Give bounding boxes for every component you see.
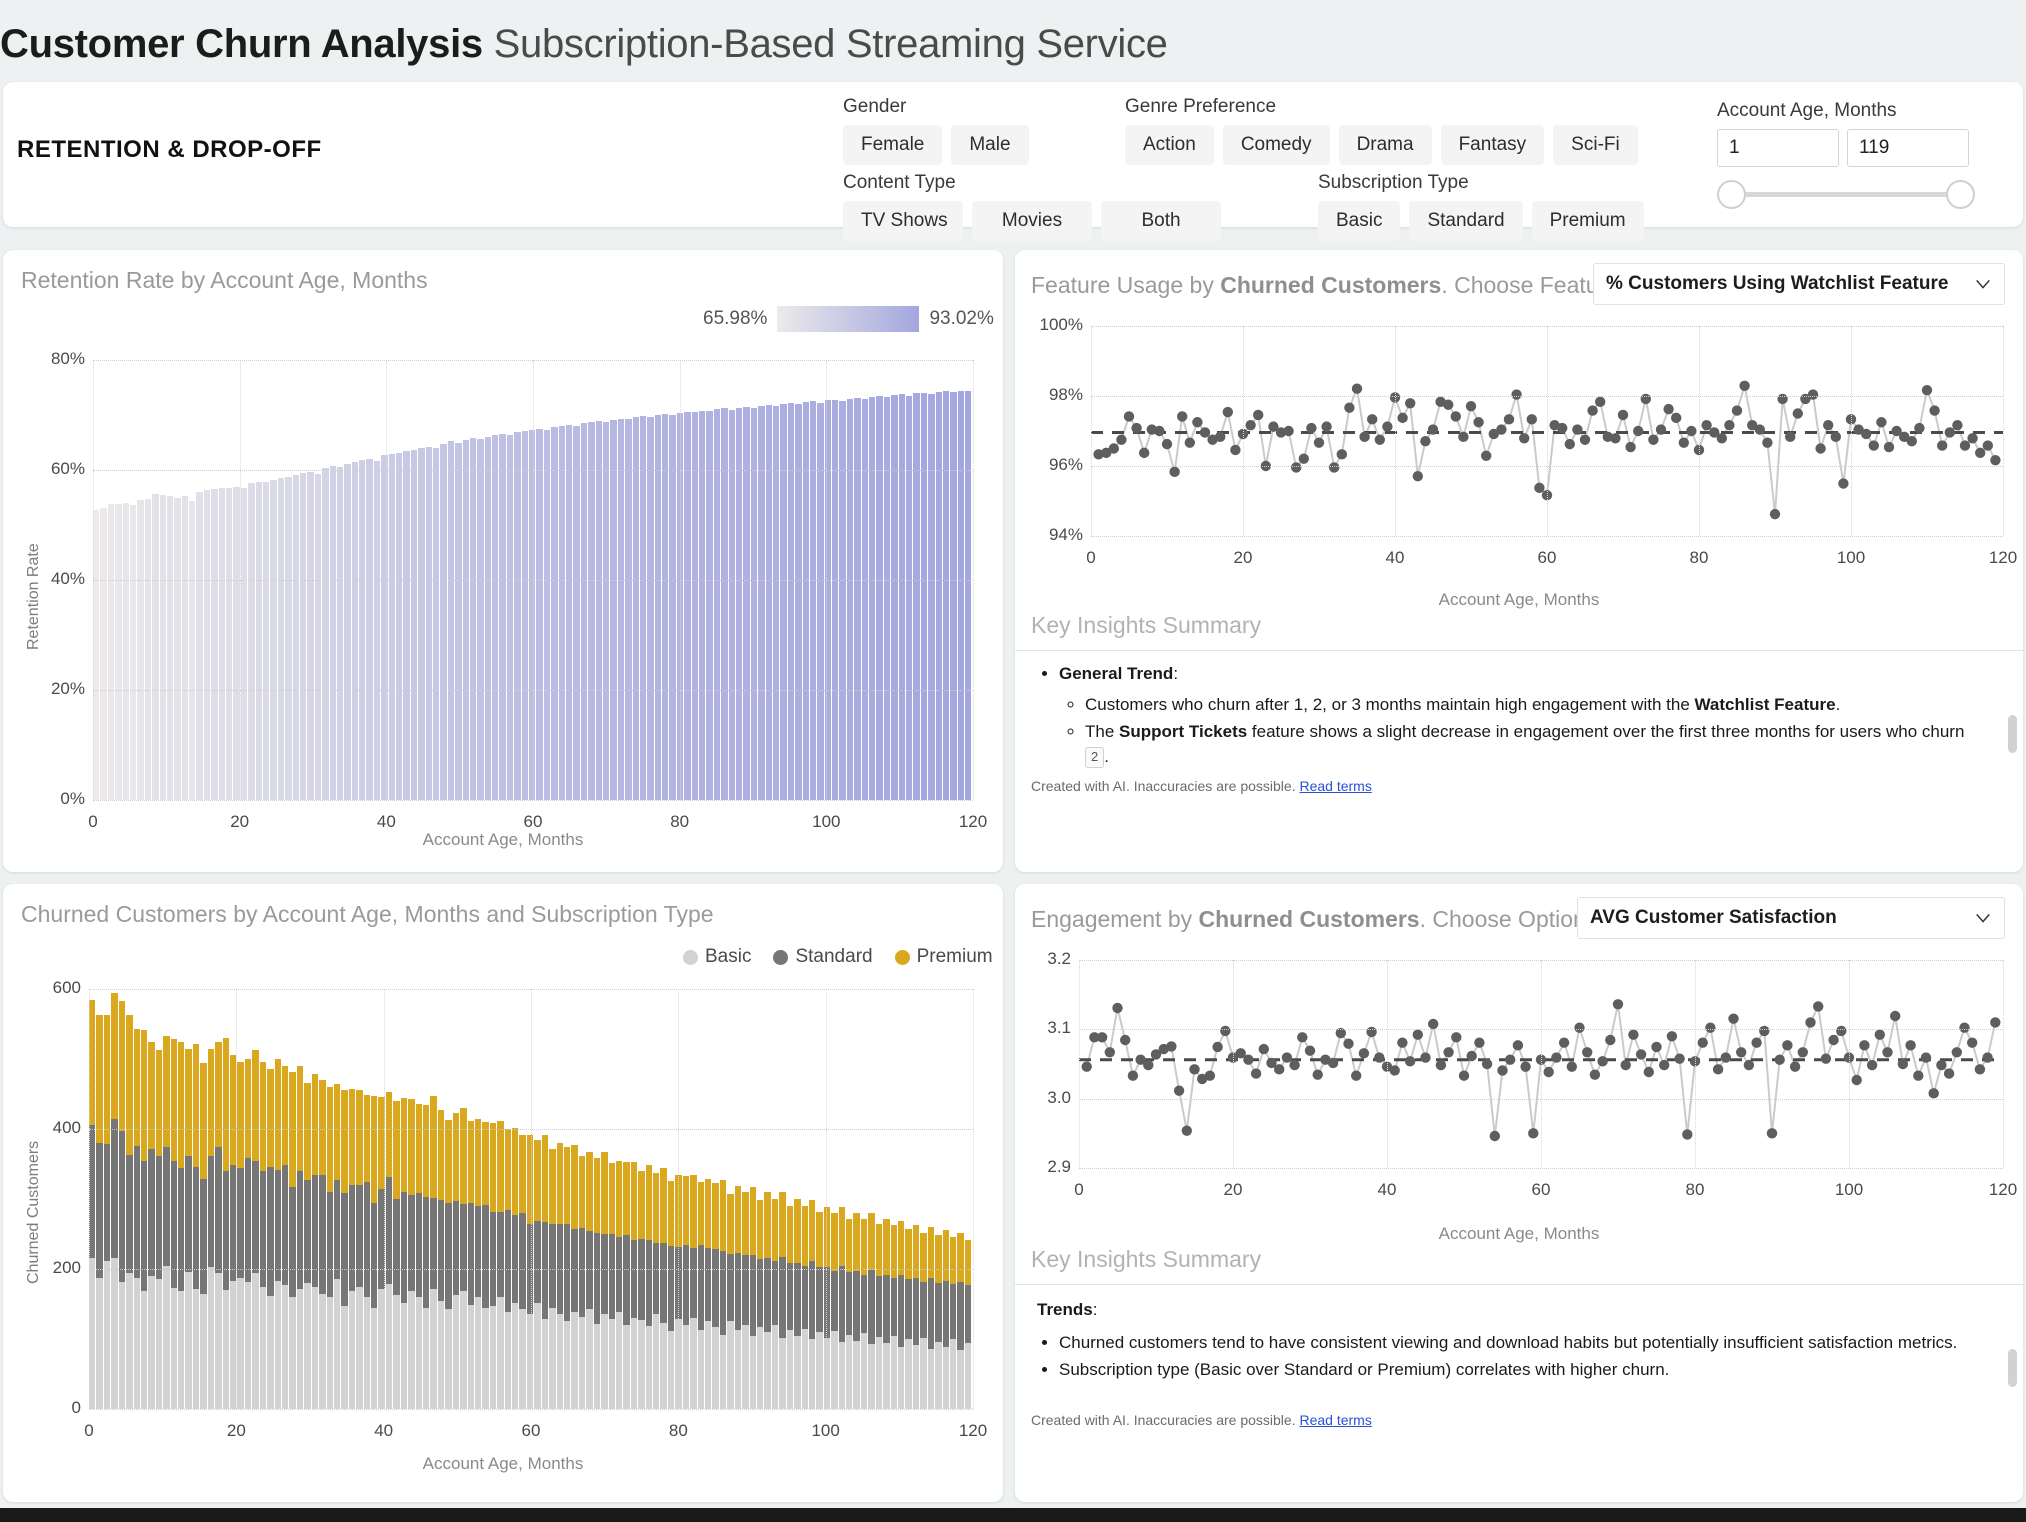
data-point[interactable] [1936, 1060, 1946, 1070]
data-point[interactable] [1343, 1039, 1353, 1049]
data-point[interactable] [1351, 1071, 1361, 1081]
bar[interactable] [950, 392, 956, 800]
data-point[interactable] [1755, 424, 1765, 434]
stacked-bar[interactable] [935, 989, 941, 1409]
stacked-bar[interactable] [401, 989, 407, 1409]
bar[interactable] [174, 498, 180, 800]
bar[interactable] [610, 420, 616, 800]
engage-read-terms-link[interactable]: Read terms [1299, 1412, 1371, 1428]
data-point[interactable] [1451, 1032, 1461, 1042]
data-point[interactable] [1975, 448, 1985, 458]
data-point[interactable] [1975, 1064, 1985, 1074]
stacked-bar[interactable] [638, 989, 644, 1409]
data-point[interactable] [1605, 1035, 1615, 1045]
data-point[interactable] [1116, 435, 1126, 445]
data-point[interactable] [1667, 1031, 1677, 1041]
data-point[interactable] [1587, 405, 1597, 415]
bar[interactable] [485, 437, 491, 800]
bar[interactable] [359, 460, 365, 800]
stacked-bar[interactable] [757, 989, 763, 1409]
data-point[interactable] [1328, 1058, 1338, 1068]
data-point[interactable] [1836, 1026, 1846, 1036]
bar[interactable] [773, 406, 779, 800]
data-point[interactable] [1793, 408, 1803, 418]
stacked-bar[interactable] [660, 989, 666, 1409]
data-point[interactable] [1230, 445, 1240, 455]
data-point[interactable] [1082, 1061, 1092, 1071]
data-point[interactable] [1504, 414, 1514, 424]
bar[interactable] [669, 415, 675, 800]
bar[interactable] [433, 448, 439, 800]
data-point[interactable] [1397, 1037, 1407, 1047]
data-point[interactable] [1169, 467, 1179, 477]
legend-item-premium[interactable]: Premium [895, 946, 993, 968]
bar[interactable] [455, 443, 461, 800]
data-point[interactable] [1420, 436, 1430, 446]
data-point[interactable] [1867, 1060, 1877, 1070]
bar[interactable] [219, 488, 225, 800]
stacked-bar[interactable] [304, 989, 310, 1409]
stacked-bar[interactable] [171, 989, 177, 1409]
bar[interactable] [884, 397, 890, 800]
data-point[interactable] [1337, 449, 1347, 459]
data-point[interactable] [1759, 1026, 1769, 1036]
stacked-bar[interactable] [742, 989, 748, 1409]
data-point[interactable] [1519, 433, 1529, 443]
data-point[interactable] [1838, 478, 1848, 488]
legend-item-basic[interactable]: Basic [683, 946, 751, 968]
bar[interactable] [832, 400, 838, 800]
data-point[interactable] [1496, 424, 1506, 434]
stacked-bar[interactable] [787, 989, 793, 1409]
filter-sub-basic[interactable]: Basic [1318, 201, 1400, 241]
data-point[interactable] [1105, 1047, 1115, 1057]
data-point[interactable] [1790, 1061, 1800, 1071]
bar[interactable] [921, 393, 927, 800]
stacked-bar[interactable] [831, 989, 837, 1409]
data-point[interactable] [1921, 1052, 1931, 1062]
bar[interactable] [743, 407, 749, 800]
data-point[interactable] [1112, 1003, 1122, 1013]
stacked-bar[interactable] [364, 989, 370, 1409]
bar[interactable] [366, 459, 372, 800]
stacked-bar[interactable] [267, 989, 273, 1409]
stacked-bar[interactable] [349, 989, 355, 1409]
bar[interactable] [795, 404, 801, 800]
data-point[interactable] [1762, 437, 1772, 447]
stacked-bar[interactable] [943, 989, 949, 1409]
data-point[interactable] [1215, 432, 1225, 442]
data-point[interactable] [1205, 1071, 1215, 1081]
bar[interactable] [551, 427, 557, 800]
data-point[interactable] [1713, 1064, 1723, 1074]
bar[interactable] [263, 482, 269, 800]
stacked-bar[interactable] [846, 989, 852, 1409]
data-point[interactable] [1174, 1085, 1184, 1095]
data-point[interactable] [1610, 433, 1620, 443]
stacked-bar[interactable] [393, 989, 399, 1409]
bar[interactable] [581, 423, 587, 800]
data-point[interactable] [1131, 423, 1141, 433]
data-point[interactable] [1154, 426, 1164, 436]
data-point[interactable] [1644, 1067, 1654, 1077]
bar[interactable] [241, 488, 247, 800]
data-point[interactable] [1177, 411, 1187, 421]
engage-select-dropdown[interactable]: AVG Customer Satisfaction [1577, 897, 2005, 939]
bar[interactable] [647, 417, 653, 800]
data-point[interactable] [1859, 1040, 1869, 1050]
feature-read-terms-link[interactable]: Read terms [1299, 778, 1371, 794]
stacked-bar[interactable] [609, 989, 615, 1409]
stacked-bar[interactable] [772, 989, 778, 1409]
data-point[interactable] [1212, 1042, 1222, 1052]
bar[interactable] [270, 480, 276, 800]
data-point[interactable] [1875, 1029, 1885, 1039]
data-point[interactable] [1413, 471, 1423, 481]
stacked-bar[interactable] [668, 989, 674, 1409]
data-point[interactable] [1329, 462, 1339, 472]
data-point[interactable] [1352, 384, 1362, 394]
data-point[interactable] [1686, 426, 1696, 436]
bar[interactable] [196, 492, 202, 800]
stacked-bar[interactable] [104, 989, 110, 1409]
data-point[interactable] [1882, 1047, 1892, 1057]
bar[interactable] [736, 408, 742, 800]
data-point[interactable] [1739, 381, 1749, 391]
data-point[interactable] [1698, 1037, 1708, 1047]
data-point[interactable] [1633, 426, 1643, 436]
stacked-bar[interactable] [223, 989, 229, 1409]
data-point[interactable] [1937, 440, 1947, 450]
data-point[interactable] [1813, 1001, 1823, 1011]
data-point[interactable] [1245, 420, 1255, 430]
stacked-bar[interactable] [779, 989, 785, 1409]
bar[interactable] [588, 422, 594, 800]
stacked-bar[interactable] [208, 989, 214, 1409]
bar[interactable] [640, 416, 646, 800]
data-point[interactable] [1922, 385, 1932, 395]
data-point[interactable] [1682, 1129, 1692, 1139]
data-point[interactable] [1907, 436, 1917, 446]
data-point[interactable] [1815, 443, 1825, 453]
bar[interactable] [278, 478, 284, 800]
filter-gender-female[interactable]: Female [843, 125, 942, 165]
bar[interactable] [100, 508, 106, 800]
bar[interactable] [204, 490, 210, 800]
data-point[interactable] [1656, 424, 1666, 434]
data-point[interactable] [1628, 1029, 1638, 1039]
data-point[interactable] [1905, 1040, 1915, 1050]
stacked-bar[interactable] [534, 989, 540, 1409]
data-point[interactable] [1625, 442, 1635, 452]
data-point[interactable] [1374, 1052, 1384, 1062]
stacked-bar[interactable] [965, 989, 971, 1409]
data-point[interactable] [1544, 1067, 1554, 1077]
data-point[interactable] [1770, 509, 1780, 519]
stacked-bar[interactable] [853, 989, 859, 1409]
data-point[interactable] [1636, 1049, 1646, 1059]
data-point[interactable] [1297, 1032, 1307, 1042]
data-point[interactable] [1679, 437, 1689, 447]
data-point[interactable] [1960, 440, 1970, 450]
data-point[interactable] [1321, 421, 1331, 431]
data-point[interactable] [1823, 420, 1833, 430]
bar[interactable] [559, 426, 565, 800]
stacked-bar[interactable] [616, 989, 622, 1409]
stacked-bar[interactable] [193, 989, 199, 1409]
filter-sub-standard[interactable]: Standard [1409, 201, 1522, 241]
data-point[interactable] [1945, 427, 1955, 437]
bar[interactable] [470, 438, 476, 800]
stacked-bar[interactable] [408, 989, 414, 1409]
account-age-slider[interactable] [1717, 175, 1975, 215]
bar[interactable] [418, 448, 424, 800]
stacked-bar[interactable] [913, 989, 919, 1409]
data-point[interactable] [1929, 405, 1939, 415]
stacked-bar[interactable] [289, 989, 295, 1409]
data-point[interactable] [1274, 1064, 1284, 1074]
bar[interactable] [618, 419, 624, 800]
stacked-bar[interactable] [252, 989, 258, 1409]
bar[interactable] [330, 466, 336, 800]
filter-genre-drama[interactable]: Drama [1339, 125, 1432, 165]
stacked-bar[interactable] [371, 989, 377, 1409]
data-point[interactable] [1367, 414, 1377, 424]
stacked-bar[interactable] [623, 989, 629, 1409]
stacked-bar[interactable] [586, 989, 592, 1409]
bar[interactable] [152, 494, 158, 800]
bar[interactable] [869, 397, 875, 800]
stacked-bar[interactable] [156, 989, 162, 1409]
data-point[interactable] [1220, 1026, 1230, 1036]
data-point[interactable] [1120, 1035, 1130, 1045]
stacked-bar[interactable] [319, 989, 325, 1409]
bar[interactable] [374, 461, 380, 800]
data-point[interactable] [1952, 1047, 1962, 1057]
data-point[interactable] [1413, 1029, 1423, 1039]
stacked-bar[interactable] [482, 989, 488, 1409]
data-point[interactable] [1831, 432, 1841, 442]
bar[interactable] [389, 454, 395, 800]
stacked-bar[interactable] [839, 989, 845, 1409]
bar[interactable] [876, 396, 882, 800]
data-point[interactable] [1375, 435, 1385, 445]
data-point[interactable] [1490, 1131, 1500, 1141]
data-point[interactable] [1097, 1032, 1107, 1042]
data-point[interactable] [1914, 423, 1924, 433]
data-point[interactable] [1243, 1055, 1253, 1065]
stacked-bar[interactable] [519, 989, 525, 1409]
data-point[interactable] [1613, 999, 1623, 1009]
stacked-bar[interactable] [594, 989, 600, 1409]
bar[interactable] [573, 426, 579, 800]
stacked-bar[interactable] [237, 989, 243, 1409]
stacked-bar[interactable] [905, 989, 911, 1409]
data-point[interactable] [1990, 455, 2000, 465]
data-point[interactable] [1736, 1047, 1746, 1057]
data-point[interactable] [1443, 1047, 1453, 1057]
bar[interactable] [633, 417, 639, 800]
bar[interactable] [544, 430, 550, 800]
data-point[interactable] [1473, 417, 1483, 427]
data-point[interactable] [1189, 1064, 1199, 1074]
stacked-bar[interactable] [512, 989, 518, 1409]
data-point[interactable] [1192, 417, 1202, 427]
data-point[interactable] [1821, 1053, 1831, 1063]
data-point[interactable] [1913, 1071, 1923, 1081]
stacked-bar[interactable] [327, 989, 333, 1409]
bar[interactable] [248, 483, 254, 800]
data-point[interactable] [1648, 435, 1658, 445]
bar[interactable] [780, 404, 786, 800]
data-point[interactable] [1497, 1065, 1507, 1075]
bar[interactable] [440, 444, 446, 800]
bar[interactable] [130, 505, 136, 800]
stacked-bar[interactable] [646, 989, 652, 1409]
stacked-bar[interactable] [445, 989, 451, 1409]
stacked-bar[interactable] [430, 989, 436, 1409]
stacked-bar[interactable] [698, 989, 704, 1409]
bar[interactable] [788, 403, 794, 800]
data-point[interactable] [1459, 1071, 1469, 1081]
bar[interactable] [603, 422, 609, 800]
bar[interactable] [758, 406, 764, 800]
data-point[interactable] [1590, 1069, 1600, 1079]
bar[interactable] [943, 391, 949, 800]
stacked-bar[interactable] [386, 989, 392, 1409]
data-point[interactable] [1520, 1061, 1530, 1071]
data-point[interactable] [1534, 483, 1544, 493]
bar[interactable] [936, 392, 942, 800]
stacked-bar[interactable] [720, 989, 726, 1409]
data-point[interactable] [1728, 1013, 1738, 1023]
filter-content-tv-shows[interactable]: TV Shows [843, 201, 963, 241]
stacked-bar[interactable] [712, 989, 718, 1409]
data-point[interactable] [1663, 404, 1673, 414]
data-point[interactable] [1732, 405, 1742, 415]
bar[interactable] [913, 393, 919, 800]
stacked-bar[interactable] [764, 989, 770, 1409]
data-point[interactable] [1967, 1037, 1977, 1047]
stacked-bar[interactable] [571, 989, 577, 1409]
stacked-bar[interactable] [727, 989, 733, 1409]
data-point[interactable] [1289, 1060, 1299, 1070]
feature-insights-scrollbar[interactable] [2008, 715, 2017, 753]
bar[interactable] [625, 419, 631, 800]
stacked-bar[interactable] [950, 989, 956, 1409]
bar[interactable] [477, 439, 483, 800]
data-point[interactable] [1253, 410, 1263, 420]
bar[interactable] [536, 429, 542, 800]
stacked-bar[interactable] [809, 989, 815, 1409]
data-point[interactable] [1359, 1048, 1369, 1058]
bar[interactable] [160, 495, 166, 800]
data-point[interactable] [1705, 1023, 1715, 1033]
data-point[interactable] [1282, 1052, 1292, 1062]
bar[interactable] [108, 504, 114, 800]
stacked-bar[interactable] [460, 989, 466, 1409]
data-point[interactable] [1674, 1053, 1684, 1063]
bar[interactable] [751, 408, 757, 800]
feature-select-dropdown[interactable]: % Customers Using Watchlist Feature [1593, 263, 2005, 305]
data-point[interactable] [1128, 1071, 1138, 1081]
data-point[interactable] [1390, 1065, 1400, 1075]
data-point[interactable] [1565, 439, 1575, 449]
data-point[interactable] [1466, 401, 1476, 411]
bar[interactable] [662, 414, 668, 800]
data-point[interactable] [1283, 426, 1293, 436]
bar[interactable] [514, 432, 520, 800]
data-point[interactable] [1717, 433, 1727, 443]
slider-handle-max[interactable] [1946, 180, 1975, 209]
bar[interactable] [123, 503, 129, 800]
stacked-bar[interactable] [883, 989, 889, 1409]
data-point[interactable] [1313, 1069, 1323, 1079]
bar[interactable] [729, 410, 735, 800]
bar[interactable] [137, 500, 143, 800]
data-point[interactable] [1185, 437, 1195, 447]
bar[interactable] [211, 489, 217, 800]
data-point[interactable] [1952, 420, 1962, 430]
stacked-bar[interactable] [631, 989, 637, 1409]
data-point[interactable] [1139, 448, 1149, 458]
data-point[interactable] [1944, 1068, 1954, 1078]
data-point[interactable] [1559, 1037, 1569, 1047]
data-point[interactable] [1651, 1042, 1661, 1052]
stacked-bar[interactable] [126, 989, 132, 1409]
data-point[interactable] [1775, 1055, 1785, 1065]
bar[interactable] [958, 391, 964, 800]
bar[interactable] [596, 421, 602, 800]
data-point[interactable] [1467, 1051, 1477, 1061]
data-point[interactable] [1397, 413, 1407, 423]
filter-sub-premium[interactable]: Premium [1532, 201, 1644, 241]
data-point[interactable] [1344, 402, 1354, 412]
stacked-bar[interactable] [898, 989, 904, 1409]
filter-content-movies[interactable]: Movies [972, 201, 1092, 241]
filter-genre-scifi[interactable]: Sci-Fi [1553, 125, 1638, 165]
bar[interactable] [566, 425, 572, 800]
stacked-bar[interactable] [119, 989, 125, 1409]
stacked-bar[interactable] [260, 989, 266, 1409]
data-point[interactable] [1223, 407, 1233, 417]
data-point[interactable] [1314, 437, 1324, 447]
account-age-max-input[interactable] [1847, 129, 1969, 167]
data-point[interactable] [1481, 451, 1491, 461]
bar[interactable] [403, 451, 409, 800]
bar[interactable] [463, 440, 469, 800]
bar[interactable] [655, 415, 661, 800]
stacked-bar[interactable] [178, 989, 184, 1409]
bar[interactable] [189, 501, 195, 800]
stacked-bar[interactable] [148, 989, 154, 1409]
bar[interactable] [307, 472, 313, 800]
stacked-bar[interactable] [334, 989, 340, 1409]
data-point[interactable] [1967, 433, 1977, 443]
stacked-bar[interactable] [200, 989, 206, 1409]
stacked-bar[interactable] [557, 989, 563, 1409]
bar[interactable] [839, 401, 845, 800]
stacked-bar[interactable] [750, 989, 756, 1409]
engage-insights-scrollbar[interactable] [2008, 1349, 2017, 1387]
stacked-bar[interactable] [163, 989, 169, 1409]
filter-genre-action[interactable]: Action [1125, 125, 1214, 165]
bar[interactable] [847, 399, 853, 800]
stacked-bar[interactable] [794, 989, 800, 1409]
filter-genre-comedy[interactable]: Comedy [1223, 125, 1330, 165]
data-point[interactable] [1551, 1052, 1561, 1062]
bar[interactable] [766, 405, 772, 800]
